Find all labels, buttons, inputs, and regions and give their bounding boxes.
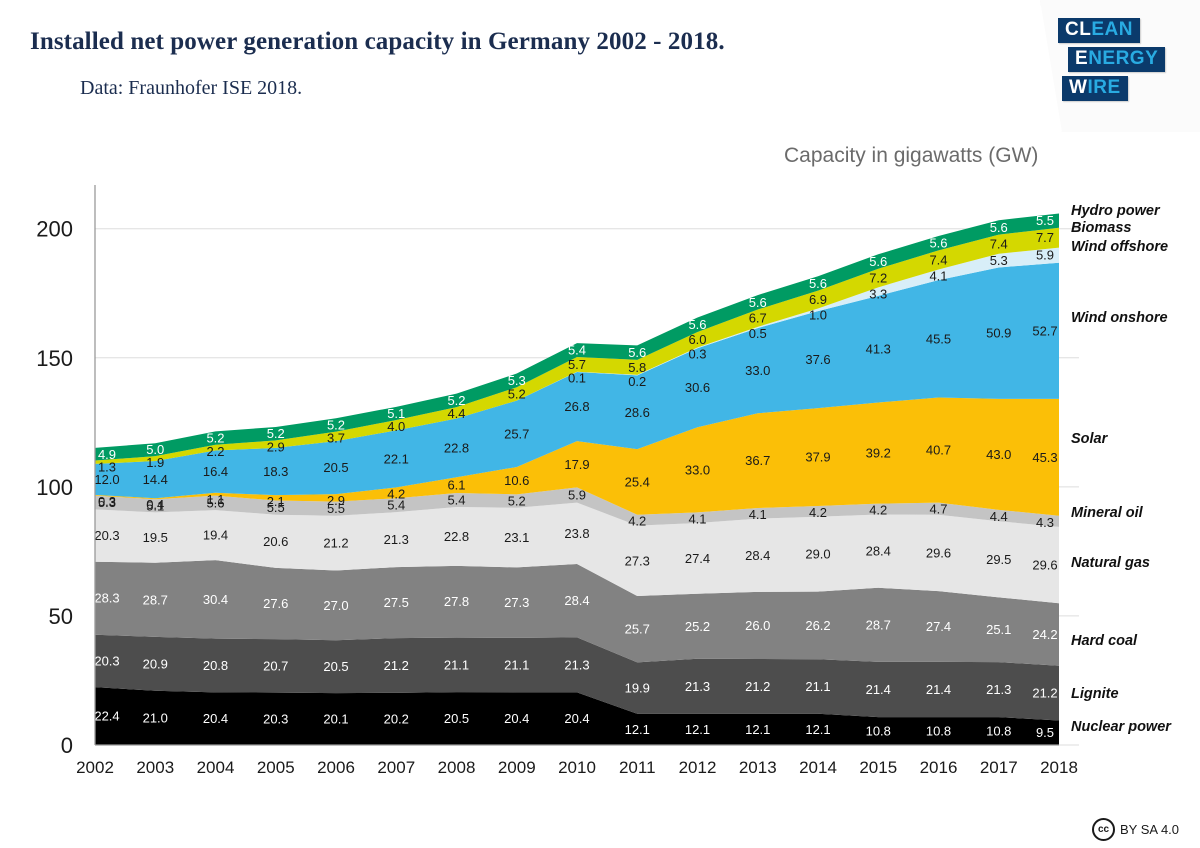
- legend-label-hard-coal: Hard coal: [1071, 633, 1138, 649]
- data-label: 14.4: [143, 472, 168, 487]
- x-axis-tick: 2003: [136, 758, 174, 777]
- data-label: 2.9: [267, 439, 285, 454]
- data-label: 23.8: [564, 526, 589, 541]
- logo-blocks: CLEAN ENERGY WIRE: [1058, 18, 1165, 105]
- x-axis-tick: 2007: [377, 758, 415, 777]
- x-axis-tick: 2012: [679, 758, 717, 777]
- data-label: 5.2: [327, 417, 345, 432]
- data-label: 20.1: [323, 712, 348, 727]
- legend-label-natural-gas: Natural gas: [1071, 555, 1150, 571]
- data-label: 4.4: [990, 509, 1008, 524]
- data-label: 41.3: [866, 342, 891, 357]
- data-label: 20.3: [94, 653, 119, 668]
- data-label: 4.0: [387, 419, 405, 434]
- data-label: 25.4: [625, 474, 650, 489]
- x-axis-tick: 2010: [558, 758, 596, 777]
- data-label: 5.2: [447, 393, 465, 408]
- legend-label-wind-offshore: Wind offshore: [1071, 239, 1168, 255]
- x-axis-tick: 2017: [980, 758, 1018, 777]
- data-label: 5.8: [628, 360, 646, 375]
- data-label: 21.2: [384, 658, 409, 673]
- data-label: 5.5: [1036, 213, 1054, 228]
- data-label: 30.4: [203, 592, 228, 607]
- legend-label-hydro-power: Hydro power: [1071, 203, 1161, 219]
- data-label: 20.3: [94, 528, 119, 543]
- legend-label-mineral-oil: Mineral oil: [1071, 505, 1144, 521]
- data-label: 50.9: [986, 326, 1011, 341]
- data-label: 27.6: [263, 596, 288, 611]
- data-label: 33.0: [745, 363, 770, 378]
- data-label: 27.4: [926, 619, 951, 634]
- data-label: 7.4: [929, 252, 947, 267]
- data-label: 22.1: [384, 451, 409, 466]
- data-label: 21.4: [926, 682, 951, 697]
- data-label: 25.7: [504, 426, 529, 441]
- data-label: 10.8: [926, 724, 951, 739]
- data-label: 4.2: [869, 503, 887, 518]
- x-axis-tick: 2009: [498, 758, 536, 777]
- data-label: 25.1: [986, 622, 1011, 637]
- x-axis-tick: 2008: [438, 758, 476, 777]
- data-label: 6.7: [749, 311, 767, 326]
- data-label: 20.4: [564, 711, 589, 726]
- data-label: 4.9: [98, 447, 116, 462]
- data-label: 22.8: [444, 440, 469, 455]
- data-label: 4.1: [749, 507, 767, 522]
- data-label: 5.6: [628, 345, 646, 360]
- data-label: 21.1: [444, 657, 469, 672]
- data-label: 25.2: [685, 619, 710, 634]
- data-label: 20.6: [263, 534, 288, 549]
- data-label: 27.5: [384, 595, 409, 610]
- data-label: 7.7: [1036, 230, 1054, 245]
- data-label: 18.3: [263, 464, 288, 479]
- data-label: 0.3: [688, 346, 706, 361]
- data-label: 5.6: [929, 236, 947, 251]
- data-label: 3.7: [327, 431, 345, 446]
- data-label: 4.1: [929, 269, 947, 284]
- legend-label-lignite: Lignite: [1071, 686, 1119, 702]
- data-label: 6.1: [447, 478, 465, 493]
- data-label: 0.5: [749, 326, 767, 341]
- data-label: 7.4: [990, 237, 1008, 252]
- data-label: 5.3: [990, 253, 1008, 268]
- data-label: 37.6: [805, 352, 830, 367]
- legend-label-biomass: Biomass: [1071, 220, 1131, 236]
- data-label: 5.7: [568, 357, 586, 372]
- data-label: 5.2: [206, 431, 224, 446]
- data-label: 45.5: [926, 331, 951, 346]
- logo-line-wire: WIRE: [1062, 76, 1128, 101]
- data-label: 21.1: [504, 658, 529, 673]
- logo-energy-blue: NERGY: [1088, 48, 1158, 69]
- data-label: 16.4: [203, 464, 228, 479]
- data-label: 4.2: [809, 505, 827, 520]
- logo-wire-white: W: [1069, 77, 1087, 98]
- data-label: 17.9: [564, 457, 589, 472]
- data-label: 1.0: [809, 307, 827, 322]
- data-label: 45.3: [1032, 450, 1057, 465]
- license-badge: cc BY SA 4.0: [1092, 818, 1179, 841]
- data-label: 19.4: [203, 528, 228, 543]
- data-label: 4.3: [1036, 515, 1054, 530]
- x-axis-tick: 2011: [619, 758, 656, 777]
- data-label: 20.8: [203, 658, 228, 673]
- data-label: 2.9: [327, 493, 345, 508]
- data-label: 4.2: [387, 486, 405, 501]
- data-label: 5.3: [508, 373, 526, 388]
- data-label: 20.9: [143, 656, 168, 671]
- data-label: 30.6: [685, 380, 710, 395]
- data-label: 39.2: [866, 446, 891, 461]
- data-label: 12.1: [625, 722, 650, 737]
- data-label: 12.1: [685, 722, 710, 737]
- data-label: 5.6: [869, 254, 887, 269]
- data-label: 1.9: [146, 455, 164, 470]
- data-label: 29.6: [926, 545, 951, 560]
- logo-line-energy: ENERGY: [1068, 47, 1165, 72]
- x-axis-tick: 2004: [197, 758, 235, 777]
- data-label: 27.0: [323, 598, 348, 613]
- data-label: 10.8: [866, 724, 891, 739]
- data-label: 24.2: [1032, 627, 1057, 642]
- data-label: 0.2: [628, 374, 646, 389]
- data-label: 4.4: [447, 406, 465, 421]
- y-axis-tick: 100: [36, 475, 73, 500]
- data-label: 10.6: [504, 473, 529, 488]
- data-label: 37.9: [805, 450, 830, 465]
- data-label: 6.0: [688, 332, 706, 347]
- data-label: 43.0: [986, 447, 1011, 462]
- data-label: 28.4: [745, 548, 770, 563]
- page-title: Installed net power generation capacity …: [30, 28, 725, 56]
- data-label: 2.1: [267, 494, 285, 509]
- y-axis-tick: 150: [36, 346, 73, 371]
- x-axis-tick: 2005: [257, 758, 295, 777]
- data-label: 29.0: [805, 547, 830, 562]
- data-label: 12.1: [805, 722, 830, 737]
- data-label: 5.9: [1036, 248, 1054, 263]
- data-label: 5.0: [146, 442, 164, 457]
- data-label: 27.8: [444, 594, 469, 609]
- data-label: 6.9: [809, 292, 827, 307]
- data-label: 20.5: [323, 460, 348, 475]
- data-label: 27.3: [504, 595, 529, 610]
- data-label: 21.0: [143, 710, 168, 725]
- data-label: 28.7: [866, 617, 891, 632]
- data-label: 5.6: [688, 317, 706, 332]
- data-label: 40.7: [926, 443, 951, 458]
- data-label: 5.2: [267, 426, 285, 441]
- data-label: 33.0: [685, 462, 710, 477]
- data-label: 4.1: [688, 511, 706, 526]
- data-label: 2.2: [206, 444, 224, 459]
- data-label: 28.3: [94, 591, 119, 606]
- data-label: 36.7: [745, 453, 770, 468]
- data-label: 21.3: [685, 679, 710, 694]
- data-label: 52.7: [1032, 323, 1057, 338]
- data-label: 4.7: [929, 502, 947, 517]
- data-label: 5.4: [447, 493, 465, 508]
- stacked-area-chart: 05010015020022.421.020.420.320.120.220.5…: [0, 180, 1200, 780]
- data-label: 20.2: [384, 711, 409, 726]
- data-label: 28.6: [625, 405, 650, 420]
- data-label: 20.5: [323, 659, 348, 674]
- data-label: 20.4: [203, 711, 228, 726]
- data-label: 5.6: [809, 276, 827, 291]
- data-label: 21.4: [866, 682, 891, 697]
- data-label: 29.5: [986, 552, 1011, 567]
- data-label: 5.9: [568, 487, 586, 502]
- x-axis-tick: 2006: [317, 758, 355, 777]
- data-label: 21.2: [323, 536, 348, 551]
- data-label: 12.1: [745, 722, 770, 737]
- page-subtitle: Data: Fraunhofer ISE 2018.: [80, 77, 302, 100]
- y-axis-caption: Capacity in gigawatts (GW): [784, 144, 1038, 168]
- legend-label-wind-onshore: Wind onshore: [1071, 310, 1168, 326]
- data-label: 20.3: [263, 711, 288, 726]
- data-label: 0.3: [98, 494, 116, 509]
- data-label: 21.2: [745, 679, 770, 694]
- data-label: 21.3: [384, 532, 409, 547]
- logo-line-clean: CLEAN: [1058, 18, 1140, 43]
- data-label: 28.4: [866, 544, 891, 559]
- data-label: 5.2: [508, 386, 526, 401]
- data-label: 28.7: [143, 592, 168, 607]
- x-axis-tick: 2014: [799, 758, 837, 777]
- legend-label-solar: Solar: [1071, 431, 1109, 447]
- data-label: 5.4: [568, 343, 586, 358]
- logo-wire-blue: IRE: [1087, 77, 1120, 98]
- data-label: 25.7: [625, 622, 650, 637]
- data-label: 21.1: [805, 679, 830, 694]
- data-label: 20.4: [504, 711, 529, 726]
- data-label: 21.3: [564, 657, 589, 672]
- data-label: 23.1: [504, 530, 529, 545]
- data-label: 10.8: [986, 724, 1011, 739]
- logo-clean-white: CL: [1065, 19, 1091, 40]
- x-axis-tick: 2016: [920, 758, 958, 777]
- data-label: 5.6: [749, 295, 767, 310]
- y-axis-tick: 200: [36, 217, 73, 242]
- data-label: 21.3: [986, 682, 1011, 697]
- data-label: 5.1: [387, 406, 405, 421]
- infographic-page: Installed net power generation capacity …: [0, 0, 1200, 848]
- data-label: 19.9: [625, 681, 650, 696]
- data-label: 29.6: [1032, 558, 1057, 573]
- data-label: 26.0: [745, 618, 770, 633]
- data-label: 1.1: [206, 492, 224, 507]
- logo-clean-blue: EAN: [1091, 19, 1133, 40]
- data-label: 22.4: [94, 709, 119, 724]
- data-label: 9.5: [1036, 725, 1054, 740]
- data-label: 22.8: [444, 529, 469, 544]
- data-label: 26.2: [805, 618, 830, 633]
- data-label: 0.1: [568, 371, 586, 386]
- data-label: 4.2: [628, 514, 646, 529]
- x-axis-tick: 2015: [859, 758, 897, 777]
- data-label: 21.2: [1032, 686, 1057, 701]
- x-axis-tick: 2018: [1040, 758, 1078, 777]
- data-label: 26.8: [564, 399, 589, 414]
- data-label: 20.7: [263, 658, 288, 673]
- x-axis-tick: 2002: [76, 758, 114, 777]
- x-axis-tick: 2013: [739, 758, 777, 777]
- y-axis-tick: 0: [61, 733, 73, 758]
- clean-energy-wire-logo[interactable]: CLEAN ENERGY WIRE: [1040, 0, 1200, 132]
- data-label: 28.4: [564, 593, 589, 608]
- data-label: 27.3: [625, 553, 650, 568]
- legend-label-nuclear-power: Nuclear power: [1071, 719, 1172, 735]
- creative-commons-icon: cc: [1092, 818, 1115, 841]
- data-label: 7.2: [869, 271, 887, 286]
- data-label: 0.4: [146, 497, 164, 512]
- logo-energy-white: E: [1075, 48, 1088, 69]
- license-text: BY SA 4.0: [1120, 822, 1179, 837]
- data-label: 27.4: [685, 551, 710, 566]
- data-label: 20.5: [444, 711, 469, 726]
- data-label: 19.5: [143, 530, 168, 545]
- data-label: 5.6: [990, 220, 1008, 235]
- y-axis-tick: 50: [49, 604, 73, 629]
- data-label: 3.3: [869, 286, 887, 301]
- data-label: 5.2: [508, 494, 526, 509]
